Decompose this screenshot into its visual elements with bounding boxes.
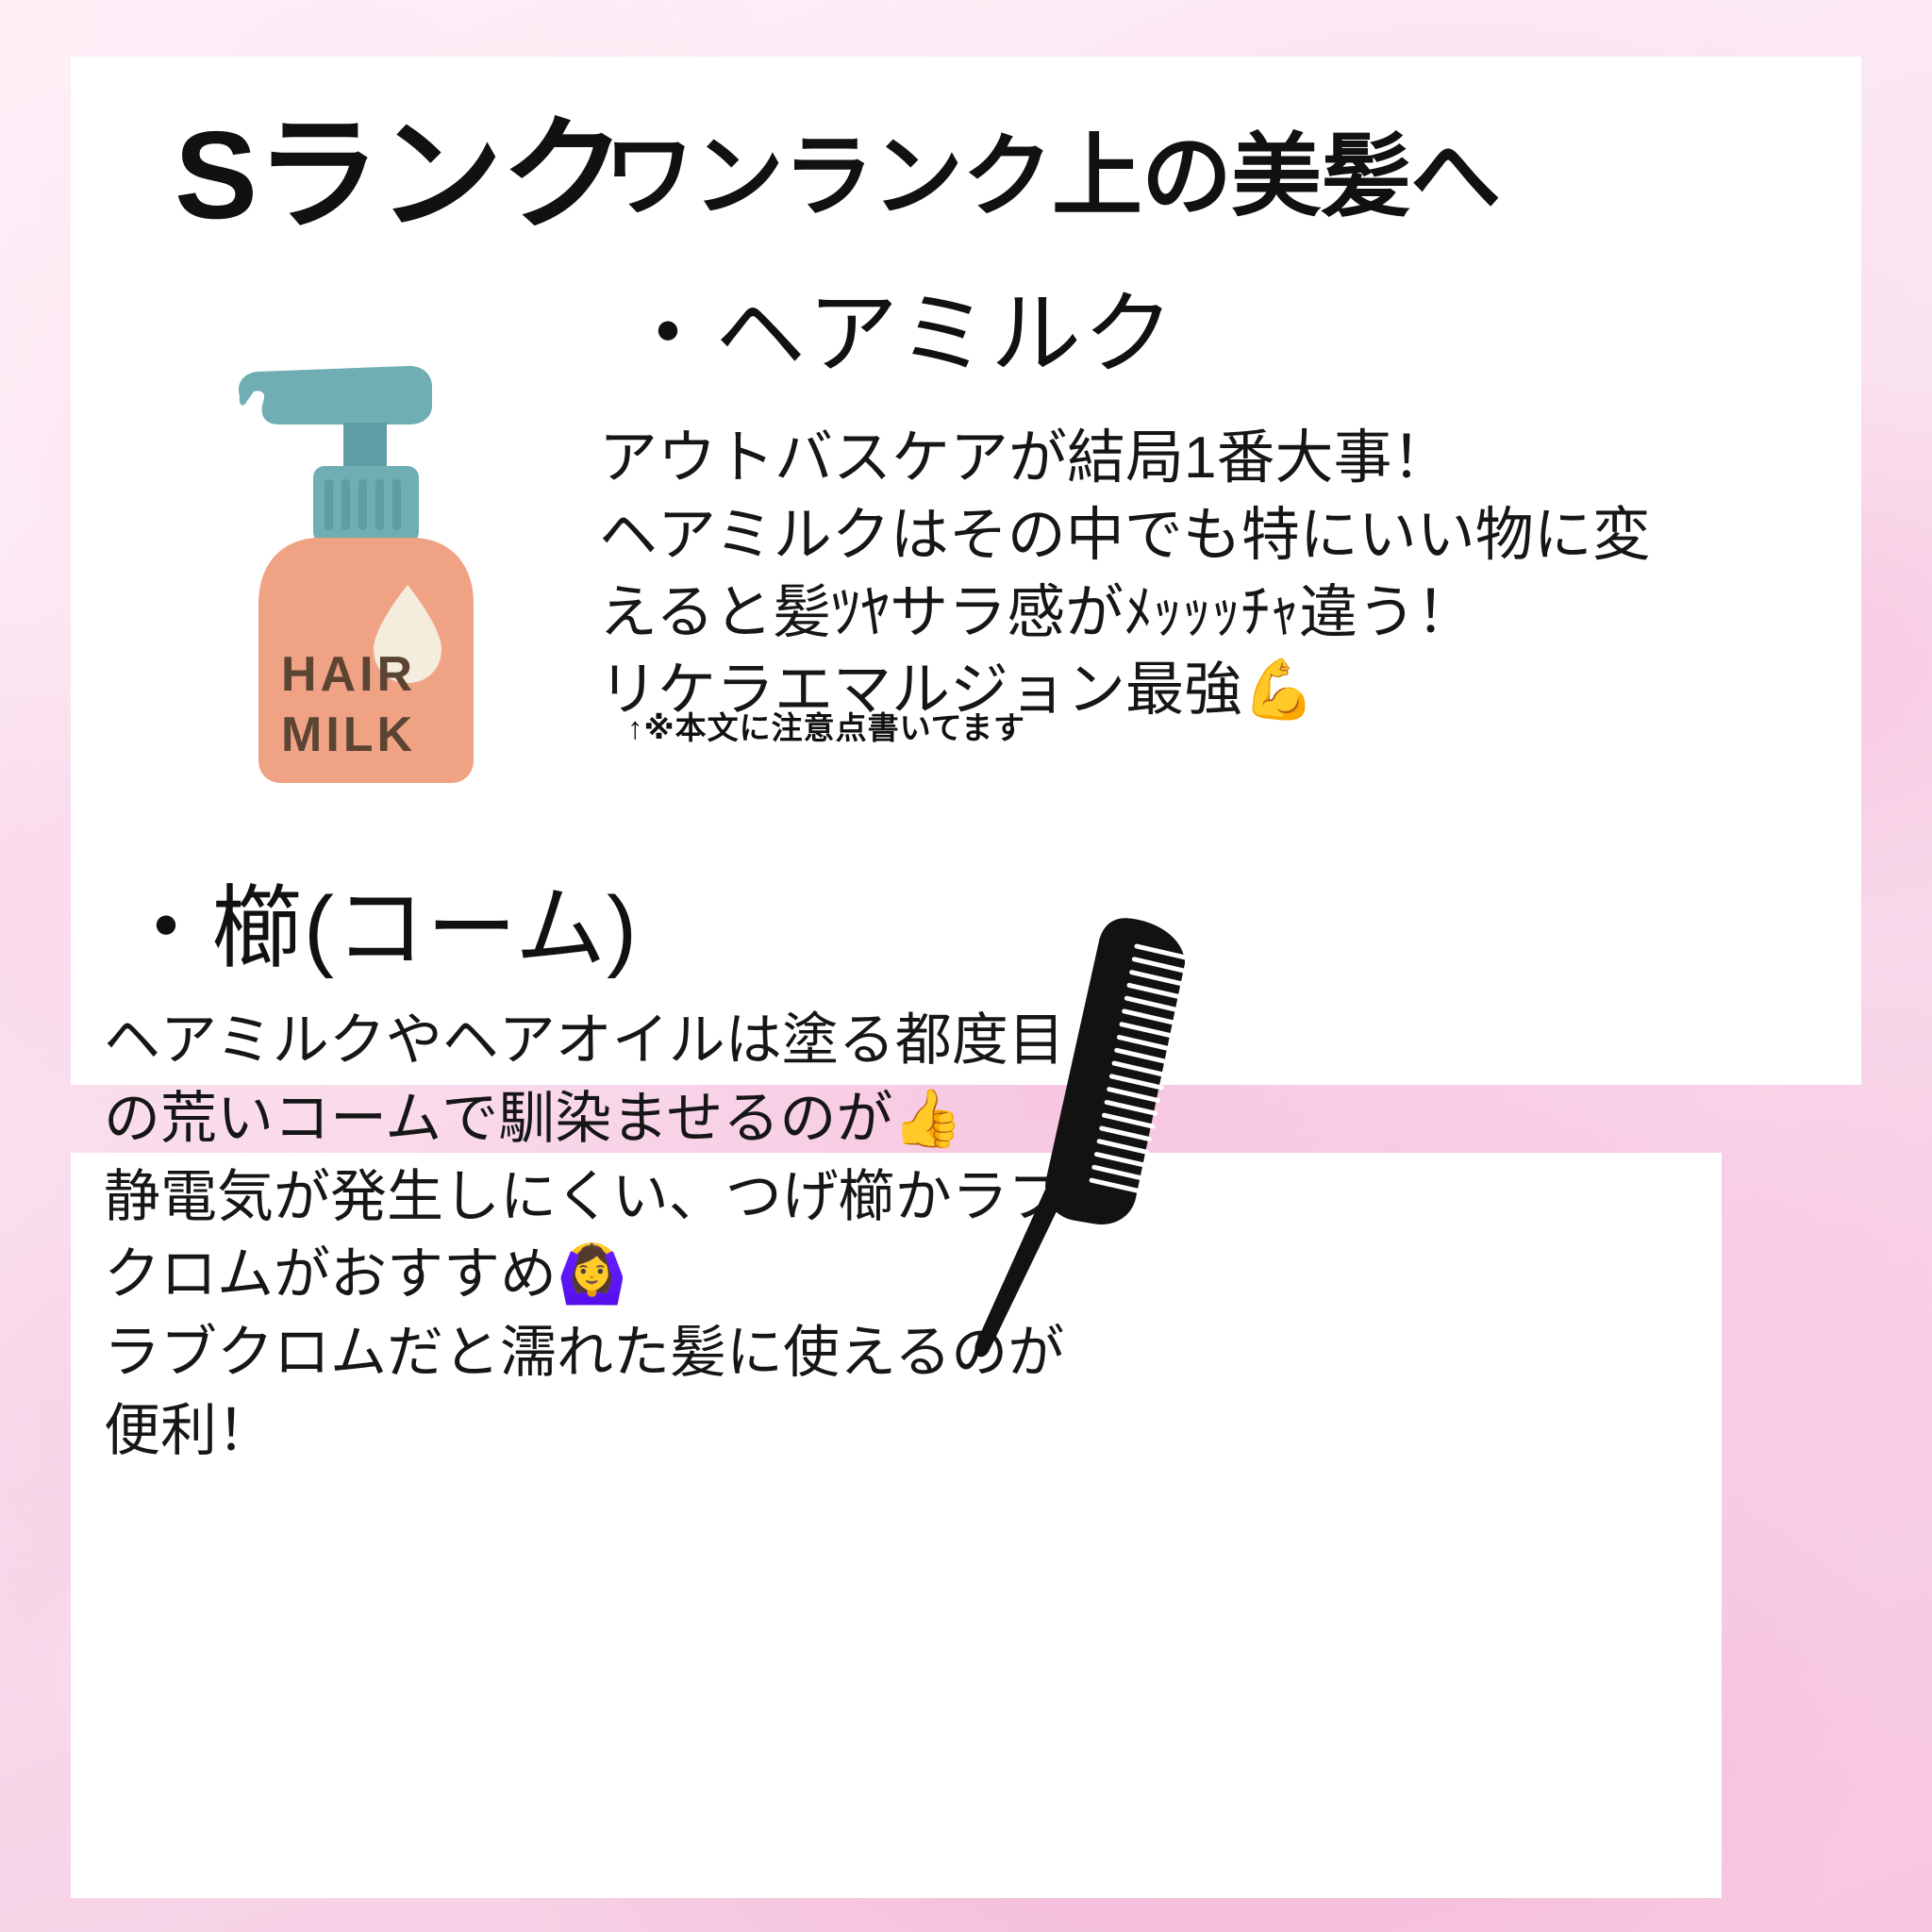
pump-lever-icon <box>239 366 432 425</box>
body-line: の荒いコームで馴染ませるのが👍 <box>104 1080 1047 1158</box>
comb-group <box>973 908 1206 1385</box>
rank-badge: Sランク <box>175 113 624 238</box>
headline-row: Sランク ワンランク上の美髪へ <box>71 104 1861 255</box>
body-line: クロムがおすすめ🙆‍♀️ <box>104 1236 1047 1314</box>
section-body-hair-milk: アウトバスケアが結局1番大事！ ヘアミルクはその中でも特にいい物に変 えると髪ﾂ… <box>599 420 1854 728</box>
bottle-label-line1: HAIR <box>281 647 416 702</box>
section-body-comb: ヘアミルクやヘアオイルは塗る都度目 の荒いコームで馴染ませるのが👍 静電気が発生… <box>104 1002 1047 1471</box>
hair-milk-bottle-illustration: HAIR MILK <box>223 351 506 794</box>
comb-tail <box>973 1182 1064 1367</box>
hair-milk-footnote: ↑※本文に注意点書いてます <box>627 703 1025 748</box>
tail-comb-illustration <box>924 906 1302 1396</box>
body-line: 静電気が発生しにくい、つげ櫛かラブ <box>104 1158 1047 1237</box>
body-line: ラブクロムだと濡れた髪に使えるのが <box>104 1314 1047 1392</box>
section-heading-comb: ・櫛(コーム) <box>121 877 638 981</box>
bottle-label-line2: MILK <box>281 708 416 762</box>
body-line: ヘアミルクはその中でも特にいい物に変 <box>599 497 1854 575</box>
body-line: 便利！ <box>104 1392 1047 1471</box>
body-line: アウトバスケアが結局1番大事！ <box>599 420 1854 497</box>
pump-stem <box>343 423 387 472</box>
body-line: ヘアミルクやヘアオイルは塗る都度目 <box>104 1002 1047 1080</box>
section-heading-hair-milk: ・ヘアミルク <box>623 283 1175 387</box>
headline-subtitle: ワンランク上の美髪へ <box>604 132 1500 223</box>
body-line: えると髪ﾂﾔサラ感がﾒｯｯｯﾁｬ違う！ <box>599 575 1854 652</box>
